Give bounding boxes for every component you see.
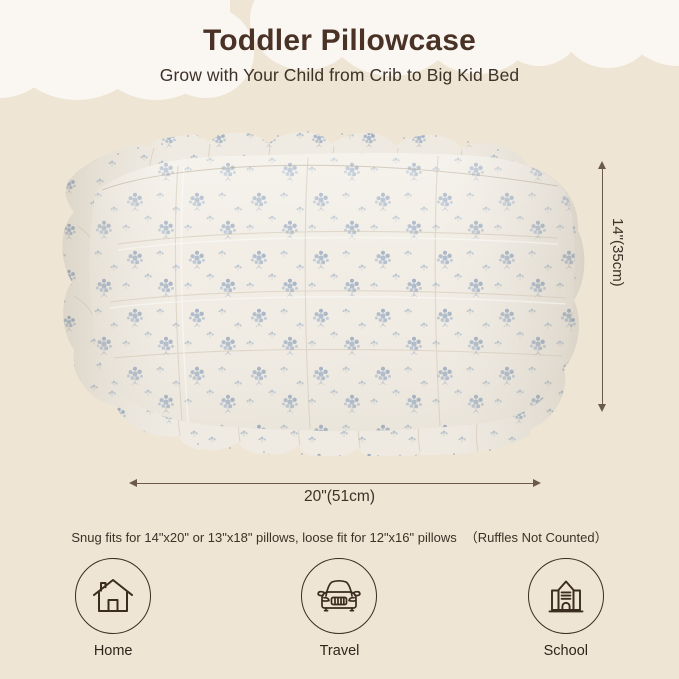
usage-item-home: Home [0,558,226,659]
usage-label-school: School [544,643,588,659]
product-image-pillowcase [58,126,588,456]
page-subtitle: Grow with Your Child from Crib to Big Ki… [0,65,679,86]
usage-label-travel: Travel [320,643,360,659]
home-icon [90,573,136,619]
home-icon-circle [75,558,151,634]
height-dimension-label: 14"(35cm) [609,218,626,338]
pillowcase-illustration [58,126,588,456]
cloud-body [270,0,550,10]
cloud-body [570,0,679,10]
width-dimension-line [137,483,533,484]
height-dimension-line [602,168,603,404]
fit-note-main: Snug fits for 14"x20" or 13"x18" pillows… [71,530,456,545]
usage-item-school: School [453,558,679,659]
header: Toddler Pillowcase Grow with Your Child … [0,24,679,86]
fit-note: Snug fits for 14"x20" or 13"x18" pillows… [0,527,679,546]
usage-scenarios: Home [0,558,679,659]
car-icon [315,574,363,618]
fit-note-parenthetical: （Ruffles Not Counted） [465,530,608,545]
infographic-page: Toddler Pillowcase Grow with Your Child … [0,0,679,679]
usage-item-travel: Travel [226,558,452,659]
usage-label-home: Home [94,643,133,659]
width-arrow-right [533,479,541,487]
page-title: Toddler Pillowcase [0,24,679,59]
car-icon-circle [301,558,377,634]
school-icon-circle [528,558,604,634]
height-arrow-top [598,161,606,169]
height-arrow-bottom [598,404,606,412]
school-building-icon [543,573,589,619]
width-dimension-label: 20"(51cm) [0,488,679,506]
width-arrow-left [129,479,137,487]
